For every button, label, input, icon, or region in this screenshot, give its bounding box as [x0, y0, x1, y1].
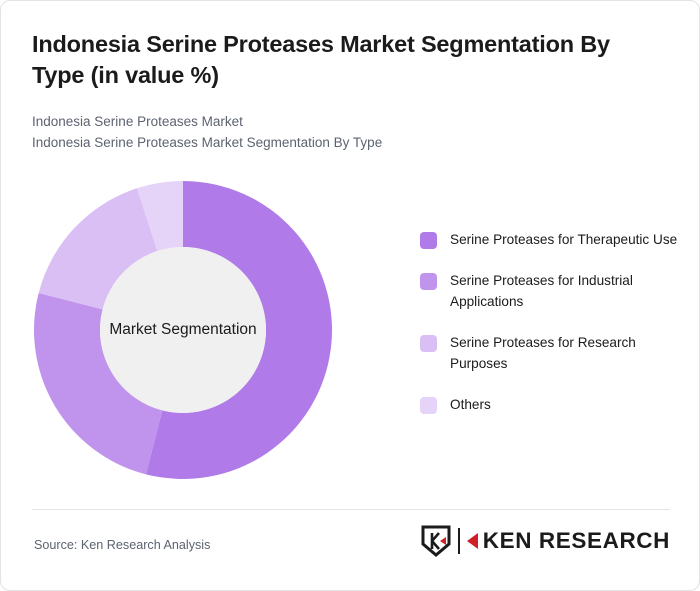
legend-item[interactable]: Serine Proteases for Therapeutic Use	[420, 229, 682, 251]
source-note: Source: Ken Research Analysis	[34, 538, 210, 552]
ken-research-logo: KEN RESEARCH	[421, 524, 670, 558]
legend-swatch-icon	[420, 273, 437, 290]
legend-item-label: Serine Proteases for Therapeutic Use	[450, 229, 677, 251]
footer-divider	[32, 509, 670, 510]
chart-legend: Serine Proteases for Therapeutic UseSeri…	[420, 229, 682, 434]
logo-divider	[458, 528, 460, 554]
legend-item[interactable]: Serine Proteases for Industrial Applicat…	[420, 270, 682, 313]
legend-item-label: Serine Proteases for Industrial Applicat…	[450, 270, 682, 313]
donut-hole	[100, 247, 266, 413]
legend-swatch-icon	[420, 397, 437, 414]
donut-chart-svg	[34, 181, 332, 479]
legend-swatch-icon	[420, 232, 437, 249]
logo-wordmark: KEN RESEARCH	[483, 530, 670, 553]
legend-swatch-icon	[420, 335, 437, 352]
chart-card: Indonesia Serine Proteases Market Segmen…	[0, 0, 700, 591]
subtitle-group: Indonesia Serine Proteases Market Indone…	[32, 111, 652, 153]
subtitle-segmentation: Indonesia Serine Proteases Market Segmen…	[32, 132, 652, 153]
legend-item-label: Others	[450, 394, 491, 416]
page-title: Indonesia Serine Proteases Market Segmen…	[32, 29, 657, 91]
legend-item-label: Serine Proteases for Research Purposes	[450, 332, 682, 375]
logo-triangle-icon	[467, 533, 478, 549]
donut-chart: Market Segmentation	[1, 171, 401, 501]
legend-item[interactable]: Serine Proteases for Research Purposes	[420, 332, 682, 375]
subtitle-market: Indonesia Serine Proteases Market	[32, 111, 652, 132]
legend-item[interactable]: Others	[420, 394, 682, 416]
ken-research-shield-icon	[421, 525, 451, 557]
